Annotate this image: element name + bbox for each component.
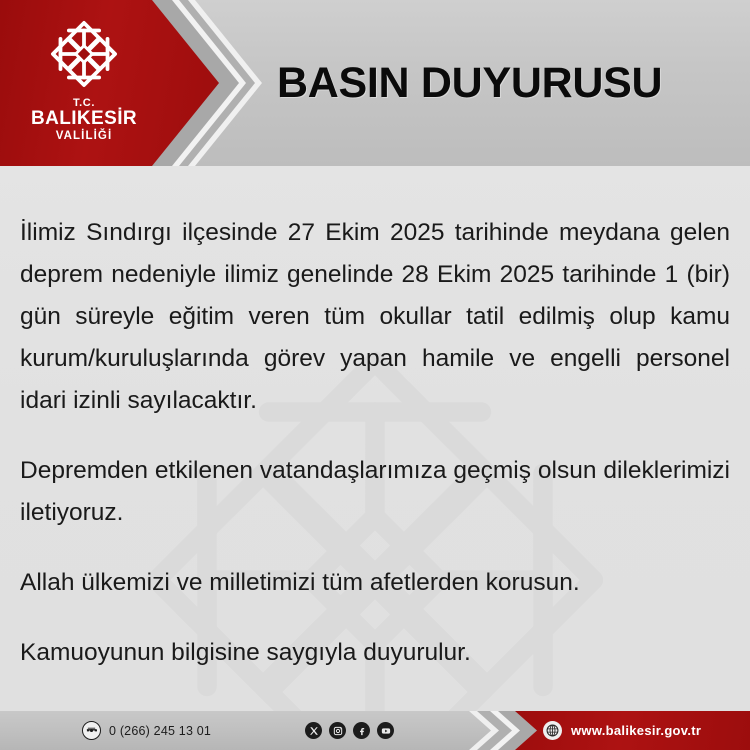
paragraph-1: İlimiz Sındırgı ilçesinde 27 Ekim 2025 t…: [20, 212, 730, 422]
footer-website[interactable]: www.balikesir.gov.tr: [543, 711, 701, 750]
logo-city-label: BALIKESİR: [31, 109, 137, 130]
telephone-icon: [82, 721, 101, 740]
facebook-icon[interactable]: [353, 722, 370, 739]
poster-header: T.C. BALIKESİR VALİLİĞİ BASIN DUYURUSU: [0, 0, 750, 166]
footer-social-links: [305, 711, 394, 750]
footer-phone[interactable]: 0 (266) 245 13 01: [82, 711, 211, 750]
press-release-poster: T.C. BALIKESİR VALİLİĞİ BASIN DUYURUSU İ…: [0, 0, 750, 750]
globe-icon: [543, 721, 562, 740]
turkish-knot-emblem-icon: [42, 12, 126, 96]
paragraph-2: Depremden etkilenen vatandaşlarımıza geç…: [20, 450, 730, 534]
paragraph-3: Allah ülkemizi ve milletimizi tüm afetle…: [20, 562, 730, 604]
paragraph-4: Kamuoyunun bilgisine saygıyla duyurulur.: [20, 632, 730, 674]
governorship-logo: T.C. BALIKESİR VALİLİĞİ: [0, 0, 168, 166]
announcement-body: İlimiz Sındırgı ilçesinde 27 Ekim 2025 t…: [0, 166, 750, 711]
instagram-icon[interactable]: [329, 722, 346, 739]
page-title: BASIN DUYURUSU: [277, 0, 662, 166]
x-twitter-icon[interactable]: [305, 722, 322, 739]
youtube-icon[interactable]: [377, 722, 394, 739]
footer-phone-number: 0 (266) 245 13 01: [109, 724, 211, 738]
footer-website-url: www.balikesir.gov.tr: [571, 723, 701, 738]
logo-governorship-label: VALİLİĞİ: [56, 130, 113, 144]
poster-footer: 0 (266) 245 13 01: [0, 711, 750, 750]
